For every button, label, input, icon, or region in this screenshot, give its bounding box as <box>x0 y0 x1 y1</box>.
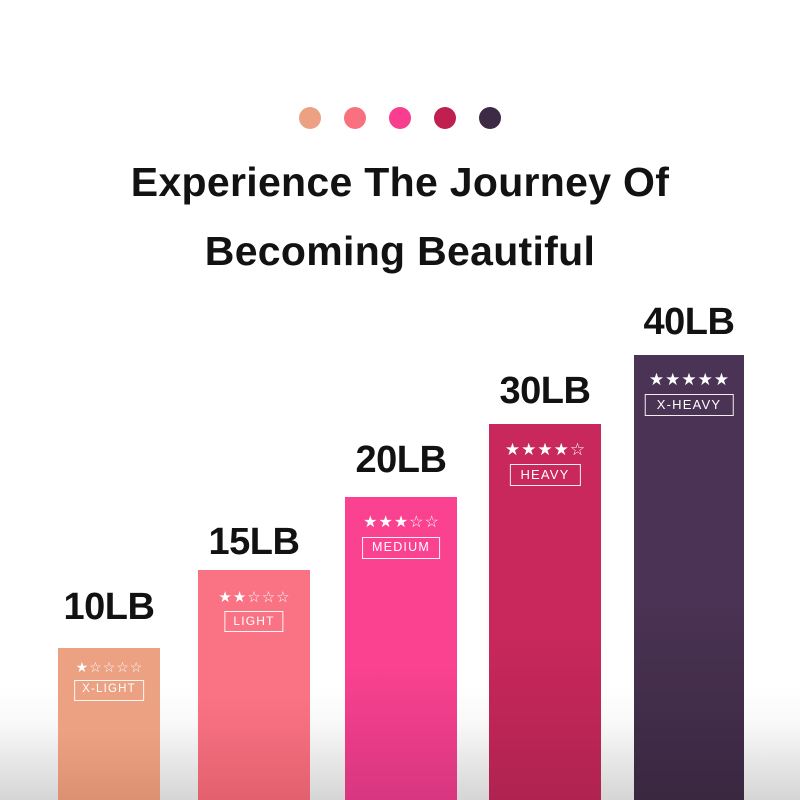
bar-weight-label-15lb: 15LB <box>198 523 310 561</box>
tier-badge-heavy: ★★★★☆HEAVY <box>505 441 585 486</box>
star-filled-icon: ★ <box>698 371 713 388</box>
star-filled-icon: ★ <box>76 660 89 674</box>
star-empty-icon: ☆ <box>130 660 143 674</box>
star-rating-40lb: ★★★★★ <box>649 371 729 388</box>
star-rating-15lb: ★★☆☆☆ <box>218 590 289 605</box>
bar-group-30lb[interactable]: 30LB★★★★☆HEAVY <box>489 372 601 800</box>
bar-weight-label-40lb: 40LB <box>634 303 744 341</box>
star-rating-30lb: ★★★★☆ <box>505 441 585 458</box>
bar-40lb[interactable]: ★★★★★X-HEAVY <box>634 355 744 800</box>
tier-badge-x-light: ★☆☆☆☆X-LIGHT <box>74 660 144 701</box>
star-filled-icon: ★ <box>649 371 664 388</box>
star-filled-icon: ★ <box>363 515 377 531</box>
star-empty-icon: ☆ <box>425 515 439 531</box>
bar-10lb[interactable]: ★☆☆☆☆X-LIGHT <box>58 648 160 800</box>
tier-label-x-light: X-LIGHT <box>74 680 144 701</box>
bar-group-40lb[interactable]: 40LB★★★★★X-HEAVY <box>634 303 744 800</box>
star-filled-icon: ★ <box>233 590 246 605</box>
star-filled-icon: ★ <box>394 515 408 531</box>
tier-label-medium: MEDIUM <box>362 537 440 559</box>
star-filled-icon: ★ <box>537 441 552 458</box>
star-filled-icon: ★ <box>505 441 520 458</box>
bar-15lb[interactable]: ★★☆☆☆LIGHT <box>198 570 310 800</box>
star-filled-icon: ★ <box>681 371 696 388</box>
star-filled-icon: ★ <box>714 371 729 388</box>
tier-badge-medium: ★★★☆☆MEDIUM <box>362 515 440 559</box>
star-empty-icon: ☆ <box>262 590 275 605</box>
star-rating-20lb: ★★★☆☆ <box>363 515 439 531</box>
star-filled-icon: ★ <box>554 441 569 458</box>
star-filled-icon: ★ <box>378 515 392 531</box>
tier-label-x-heavy: X-HEAVY <box>645 394 734 416</box>
tier-label-heavy: HEAVY <box>509 464 580 486</box>
bar-weight-label-20lb: 20LB <box>345 441 457 479</box>
star-filled-icon: ★ <box>665 371 680 388</box>
star-rating-10lb: ★☆☆☆☆ <box>76 660 143 674</box>
bar-20lb[interactable]: ★★★☆☆MEDIUM <box>345 497 457 800</box>
star-empty-icon: ☆ <box>103 660 116 674</box>
bar-group-10lb[interactable]: 10LB★☆☆☆☆X-LIGHT <box>58 588 160 800</box>
star-empty-icon: ☆ <box>116 660 129 674</box>
star-empty-icon: ☆ <box>409 515 423 531</box>
infographic-canvas: Experience The Journey Of Becoming Beaut… <box>0 0 800 800</box>
bar-30lb[interactable]: ★★★★☆HEAVY <box>489 424 601 800</box>
bar-group-15lb[interactable]: 15LB★★☆☆☆LIGHT <box>198 523 310 800</box>
bar-group-20lb[interactable]: 20LB★★★☆☆MEDIUM <box>345 441 457 800</box>
bar-weight-label-30lb: 30LB <box>489 372 601 410</box>
resistance-bar-chart: 10LB★☆☆☆☆X-LIGHT15LB★★☆☆☆LIGHT20LB★★★☆☆M… <box>0 0 800 800</box>
bar-weight-label-10lb: 10LB <box>58 588 160 626</box>
star-filled-icon: ★ <box>218 590 231 605</box>
tier-badge-x-heavy: ★★★★★X-HEAVY <box>645 371 734 416</box>
star-empty-icon: ☆ <box>276 590 289 605</box>
star-empty-icon: ☆ <box>247 590 260 605</box>
tier-badge-light: ★★☆☆☆LIGHT <box>218 590 289 632</box>
tier-label-light: LIGHT <box>224 611 283 632</box>
star-filled-icon: ★ <box>521 441 536 458</box>
star-empty-icon: ☆ <box>89 660 102 674</box>
star-empty-icon: ☆ <box>570 441 585 458</box>
